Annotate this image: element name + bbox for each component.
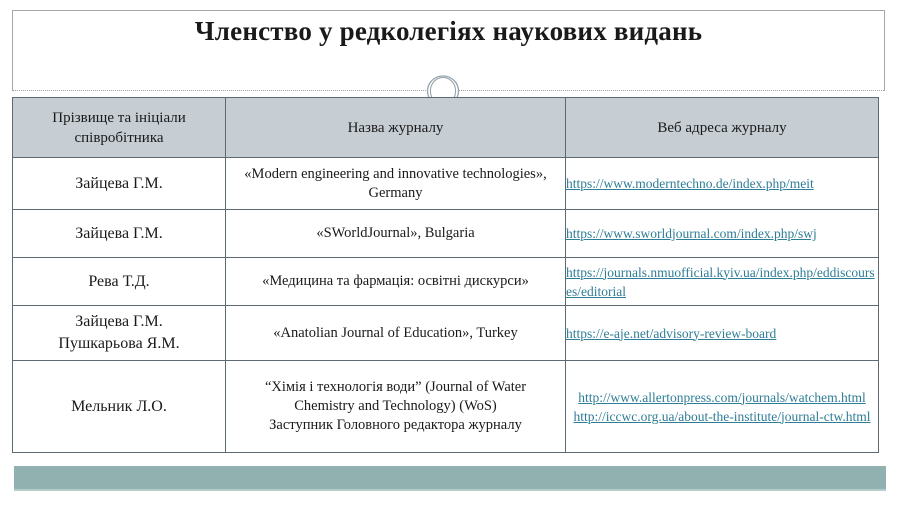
journal-link[interactable]: https://www.sworldjournal.com/index.php/… <box>566 224 878 243</box>
employee-name-line-1: Зайцева Г.М. <box>75 313 162 330</box>
membership-table-container: Прізвище та ініціали співробітника Назва… <box>12 97 878 453</box>
cell-journal-title: «Медицина та фармація: освітні дискурси» <box>226 258 566 306</box>
cell-employee-name: Зайцева Г.М. Пушкарьова Я.М. <box>13 306 226 361</box>
cell-employee-name: Зайцева Г.М. <box>13 158 226 210</box>
cell-journal-title: «Modern engineering and innovative techn… <box>226 158 566 210</box>
cell-journal-title: “Хімія і технологія води” (Journal of Wa… <box>226 361 566 453</box>
page-title: Членство у редколегіях наукових видань <box>12 14 885 48</box>
cell-employee-name: Мельник Л.О. <box>13 361 226 453</box>
cell-journal-url: http://www.allertonpress.com/journals/wa… <box>566 361 879 453</box>
column-header-url: Веб адреса журналу <box>566 98 879 158</box>
journal-link[interactable]: http://www.allertonpress.com/journals/wa… <box>566 388 878 407</box>
employee-name-line-2: Пушкарьова Я.М. <box>58 335 179 352</box>
table-row: Мельник Л.О. “Хімія і технологія води” (… <box>13 361 879 453</box>
title-divider <box>13 90 884 92</box>
slide-canvas: Членство у редколегіях наукових видань П… <box>0 0 900 506</box>
table-row: Зайцева Г.М. «Modern engineering and inn… <box>13 158 879 210</box>
journal-link[interactable]: https://www.moderntechno.de/index.php/me… <box>566 174 878 193</box>
column-header-name: Прізвище та ініціали співробітника <box>13 98 226 158</box>
cell-journal-url: https://www.moderntechno.de/index.php/me… <box>566 158 879 210</box>
table-header-row: Прізвище та ініціали співробітника Назва… <box>13 98 879 158</box>
cell-journal-url: https://journals.nmuofficial.kyiv.ua/ind… <box>566 258 879 306</box>
journal-link[interactable]: https://e-aje.net/advisory-review-board <box>566 324 878 343</box>
table-row: Зайцева Г.М. «SWorldJournal», Bulgaria h… <box>13 210 879 258</box>
journal-title-line-2: Chemistry and Technology) (WoS) <box>294 398 497 414</box>
cell-journal-url: https://www.sworldjournal.com/index.php/… <box>566 210 879 258</box>
journal-link[interactable]: https://journals.nmuofficial.kyiv.ua/ind… <box>566 263 878 301</box>
cell-employee-name: Зайцева Г.М. <box>13 210 226 258</box>
cell-journal-url: https://e-aje.net/advisory-review-board <box>566 306 879 361</box>
cell-employee-name: Рева Т.Д. <box>13 258 226 306</box>
column-header-journal: Назва журналу <box>226 98 566 158</box>
journal-title-line-3: Заступник Головного редактора журналу <box>269 417 522 433</box>
cell-journal-title: «Anatolian Journal of Education», Turkey <box>226 306 566 361</box>
membership-table: Прізвище та ініціали співробітника Назва… <box>12 97 879 453</box>
journal-link[interactable]: http://iccwc.org.ua/about-the-institute/… <box>566 407 878 426</box>
journal-title-line-1: “Хімія і технологія води” (Journal of Wa… <box>265 379 526 395</box>
table-row: Рева Т.Д. «Медицина та фармація: освітні… <box>13 258 879 306</box>
table-row: Зайцева Г.М. Пушкарьова Я.М. «Anatolian … <box>13 306 879 361</box>
bottom-accent-bar <box>14 466 886 489</box>
bottom-accent-bar-edge <box>14 489 886 491</box>
cell-journal-title: «SWorldJournal», Bulgaria <box>226 210 566 258</box>
